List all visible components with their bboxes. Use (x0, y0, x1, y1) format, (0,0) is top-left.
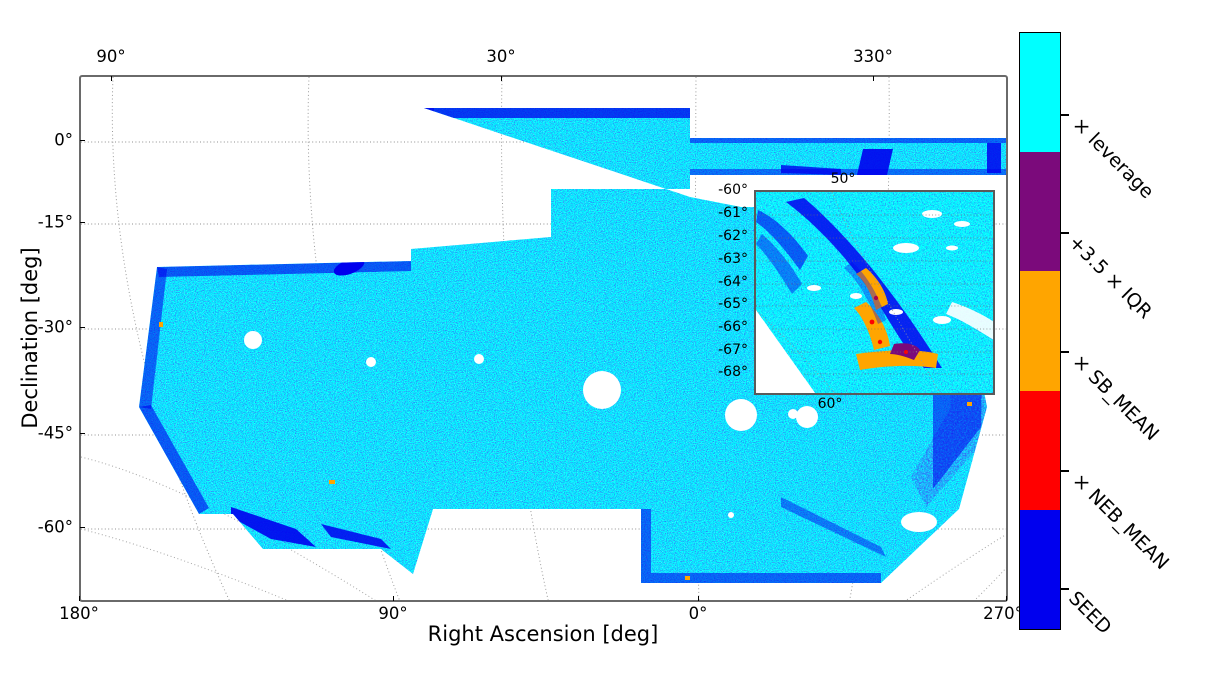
inset-y-tick-1: -61° (718, 205, 748, 221)
colorbar-label-neb-mean: × NEB_MEAN (1068, 469, 1173, 574)
colorbar-tick-0 (1061, 114, 1069, 116)
colorbar-tick-2 (1061, 351, 1069, 353)
figure-root: 90° 30° 330° 180° 90° 0° 270° 0° -15° -3… (0, 0, 1208, 681)
inset-axes (754, 190, 995, 395)
x-tick-bottom-0: 180° (59, 604, 99, 623)
inset-y-tick-3: -63° (718, 251, 748, 267)
inset-y-tick-7: -67° (718, 342, 748, 358)
x-axis-title: Right Ascension [deg] (428, 622, 659, 646)
y-tick-0: 0° (54, 131, 73, 150)
x-tick-top-2: 330° (853, 47, 893, 66)
colorbar-segment-iqr (1020, 152, 1060, 271)
colorbar-label-seed: SEED (1064, 587, 1115, 638)
y-tick-1: -15° (38, 213, 73, 232)
x-tick-top-0: 90° (96, 47, 125, 66)
inset-map (756, 192, 995, 395)
colorbar-segment-leverage (1020, 33, 1060, 152)
colorbar-segment-seed (1020, 510, 1060, 629)
inset-y-tick-0: -60° (718, 182, 748, 198)
colorbar-segment-neb-mean (1020, 391, 1060, 510)
inset-x-tick-top: 50° (831, 171, 856, 187)
y-tick-4: -60° (38, 518, 73, 537)
colorbar-segment-sb-mean (1020, 271, 1060, 390)
x-tick-bottom-1: 90° (378, 604, 407, 623)
colorbar-tick-4 (1061, 588, 1069, 590)
colorbar-label-leverage: × leverage (1068, 113, 1158, 203)
colorbar-label-iqr: +3.5 × IQR (1064, 231, 1156, 323)
colorbar-label-sb-mean: × SB_MEAN (1068, 350, 1163, 445)
colorbar[interactable] (1019, 32, 1061, 630)
inset-y-tick-4: -64° (718, 274, 748, 290)
inset-y-tick-2: -62° (718, 228, 748, 244)
y-tick-3: -45° (38, 424, 73, 443)
x-tick-bottom-3: 270° (983, 604, 1023, 623)
inset-x-tick-bottom: 60° (818, 396, 843, 412)
y-axis-title: Declination [deg] (18, 247, 42, 428)
inset-y-tick-8: -68° (718, 364, 748, 380)
x-tick-bottom-2: 0° (689, 604, 708, 623)
colorbar-tick-3 (1061, 470, 1069, 472)
y-tick-2: -30° (38, 318, 73, 337)
colorbar-tick-1 (1061, 232, 1069, 234)
inset-y-tick-5: -65° (718, 296, 748, 312)
x-tick-top-1: 30° (486, 47, 515, 66)
inset-y-tick-6: -66° (718, 319, 748, 335)
